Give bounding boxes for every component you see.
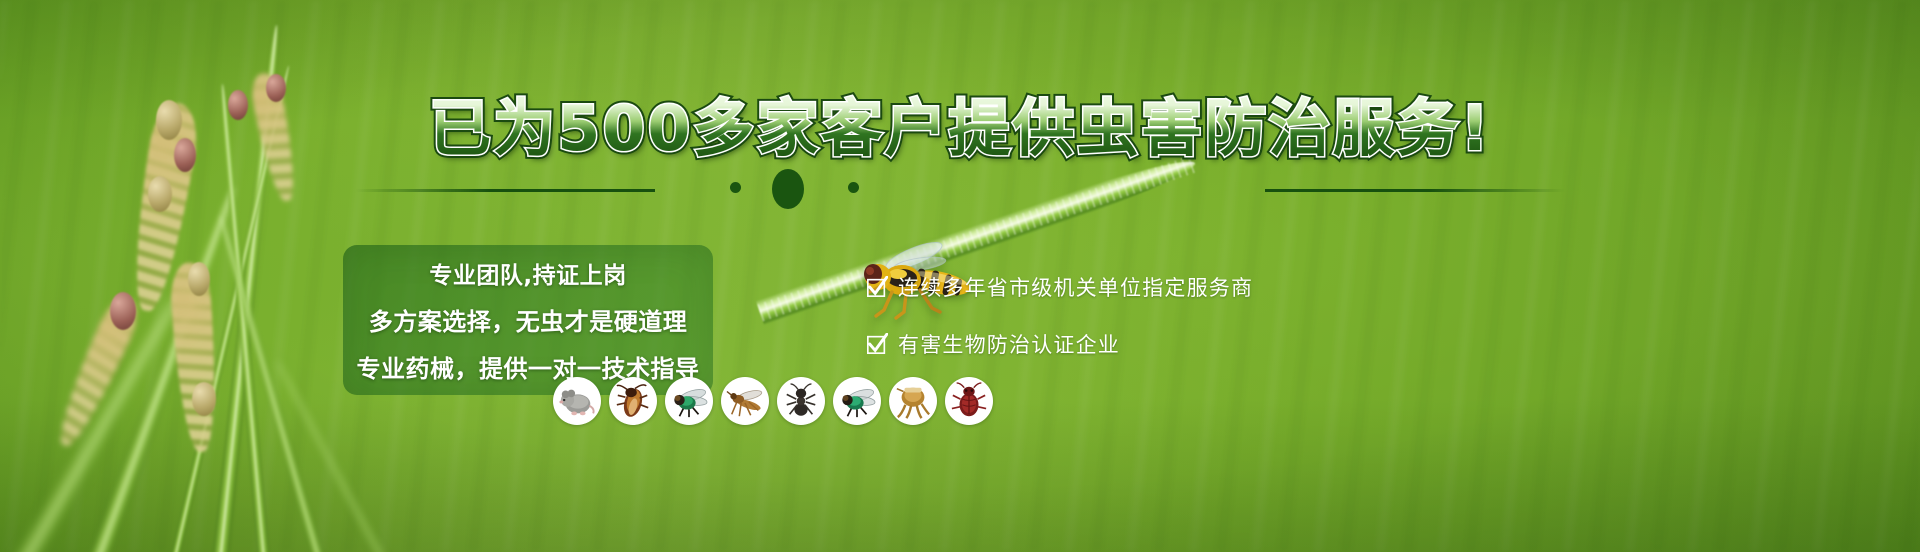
divider-dot-small-right — [848, 182, 859, 193]
flea-icon — [894, 382, 932, 420]
grass-blade — [2, 290, 190, 552]
headline: 已为500多家客户提供虫害防治服务! 已为500多家客户提供虫害防治服务! 已为… — [0, 78, 1920, 158]
pest-icon-mouse[interactable] — [553, 377, 601, 425]
bedbug-icon — [950, 382, 988, 420]
divider-line-left — [355, 189, 655, 192]
divider-line-right — [1265, 189, 1565, 192]
seed-bud — [188, 262, 210, 296]
feature-line-1: 专业团队,持证上岗 — [429, 256, 626, 290]
promo-banner: 已为500多家客户提供虫害防治服务! 已为500多家客户提供虫害防治服务! 已为… — [0, 0, 1920, 552]
pest-icon-ant[interactable] — [777, 377, 825, 425]
pest-icon-row — [553, 377, 993, 425]
divider — [0, 172, 1920, 206]
credential-text: 连续多年省市级机关单位指定服务商 — [898, 272, 1253, 302]
checkbox-checked-icon — [866, 276, 888, 298]
mouse-icon — [558, 382, 596, 420]
housefly-icon — [838, 382, 876, 420]
credentials-list: 连续多年省市级机关单位指定服务商 有害生物防治认证企业 — [866, 272, 1326, 386]
headline-text: 已为500多家客户提供虫害防治服务! — [0, 78, 1920, 168]
greenbottle-fly-icon — [670, 382, 708, 420]
divider-dot-small-left — [730, 182, 741, 193]
checkbox-checked-icon — [866, 333, 888, 355]
credential-text: 有害生物防治认证企业 — [898, 329, 1120, 359]
seed-bud — [192, 382, 216, 416]
pest-icon-cockroach[interactable] — [609, 377, 657, 425]
divider-dot-large — [772, 169, 804, 209]
pest-icon-flea[interactable] — [889, 377, 937, 425]
feature-line-2: 多方案选择，无虫才是硬道理 — [369, 302, 688, 337]
list-item: 连续多年省市级机关单位指定服务商 — [866, 272, 1326, 302]
list-item: 有害生物防治认证企业 — [866, 329, 1326, 359]
feature-card: 专业团队,持证上岗 多方案选择，无虫才是硬道理 专业药械，提供一对一技术指导 — [343, 245, 713, 395]
pest-icon-bedbug[interactable] — [945, 377, 993, 425]
pest-icon-greenbottle-fly[interactable] — [665, 377, 713, 425]
cockroach-icon — [614, 382, 652, 420]
ant-icon — [782, 382, 820, 420]
pest-icon-housefly[interactable] — [833, 377, 881, 425]
seed-bud — [110, 292, 136, 330]
mosquito-icon — [726, 382, 764, 420]
pest-icon-mosquito[interactable] — [721, 377, 769, 425]
